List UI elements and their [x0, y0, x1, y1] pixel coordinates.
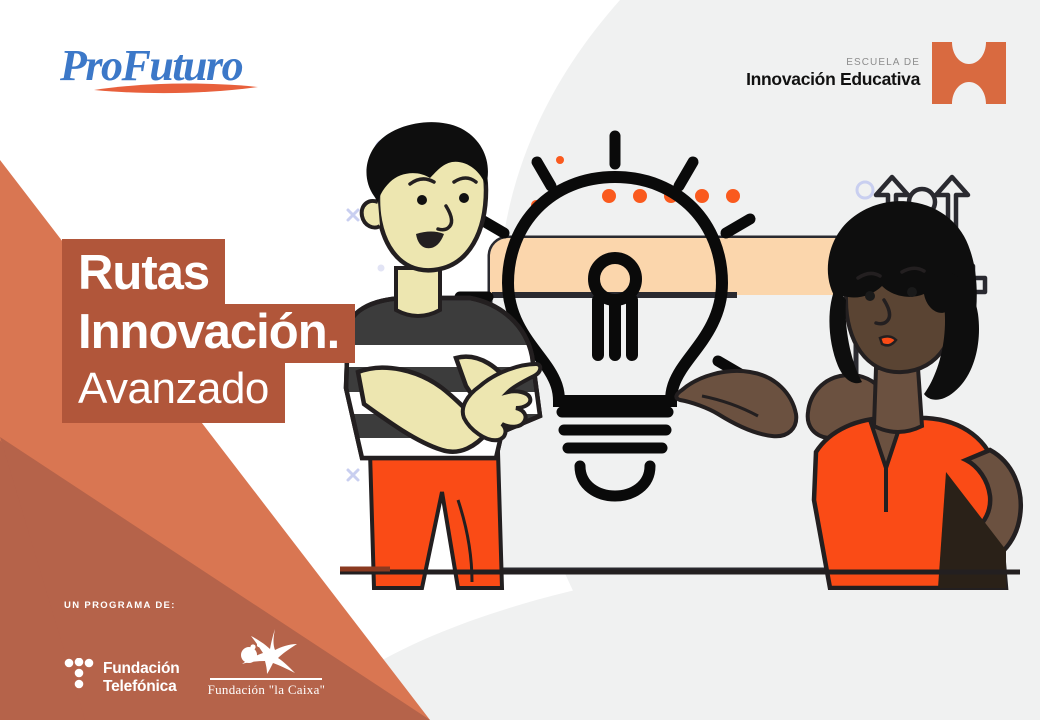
profuturo-logo[interactable]: ProFuturo [58, 38, 278, 100]
slide-root: ProFuturo ESCUELA DE Innovación Educativ… [0, 0, 1040, 720]
decor-x-icon-2 [348, 470, 358, 480]
illustration [330, 120, 1030, 590]
caixa-rule [210, 678, 322, 680]
caixa-name: Fundación "la Caixa" [208, 682, 326, 698]
decor-circle-outline-icon-2 [857, 182, 873, 198]
profuturo-wordmark-icon: ProFuturo [58, 38, 278, 100]
decor-x-icon [348, 210, 358, 220]
sponsors-kicker: UN PROGRAMA DE: [64, 600, 325, 611]
title-line-1: Rutas [62, 239, 225, 304]
la-caixa-star-logo-icon [229, 627, 303, 675]
telefonica-name-line2: Telefónica [103, 678, 177, 695]
sponsors-block: UN PROGRAMA DE: Fundación Telefónica [64, 600, 325, 698]
title-line-3: Avanzado [62, 363, 285, 423]
school-name: Innovación Educativa [746, 70, 920, 88]
orange-dot-icon-2 [556, 156, 564, 164]
school-kicker: ESCUELA DE [746, 58, 920, 69]
decor-dot-icon-4 [378, 265, 385, 272]
svg-text:ProFuturo: ProFuturo [59, 41, 243, 90]
fundacion-telefonica-logo[interactable]: Fundación Telefónica [64, 658, 180, 698]
page-title: Rutas Innovación. Avanzado [62, 239, 355, 423]
telefonica-name: Fundación Telefónica [103, 660, 180, 695]
telefonica-dots-logo-icon [64, 658, 94, 698]
telefonica-name-line1: Fundación [103, 660, 180, 677]
escuela-innovacion-educativa-logo[interactable]: ESCUELA DE Innovación Educativa [746, 42, 1008, 104]
school-logo-text: ESCUELA DE Innovación Educativa [746, 58, 920, 88]
title-line-2: Innovación. [62, 304, 355, 363]
fundacion-la-caixa-logo[interactable]: Fundación "la Caixa" [208, 627, 326, 698]
sponsors-row: Fundación Telefónica Fundación "la Caixa… [64, 627, 325, 698]
escuela-x-logo-icon [930, 42, 1008, 104]
